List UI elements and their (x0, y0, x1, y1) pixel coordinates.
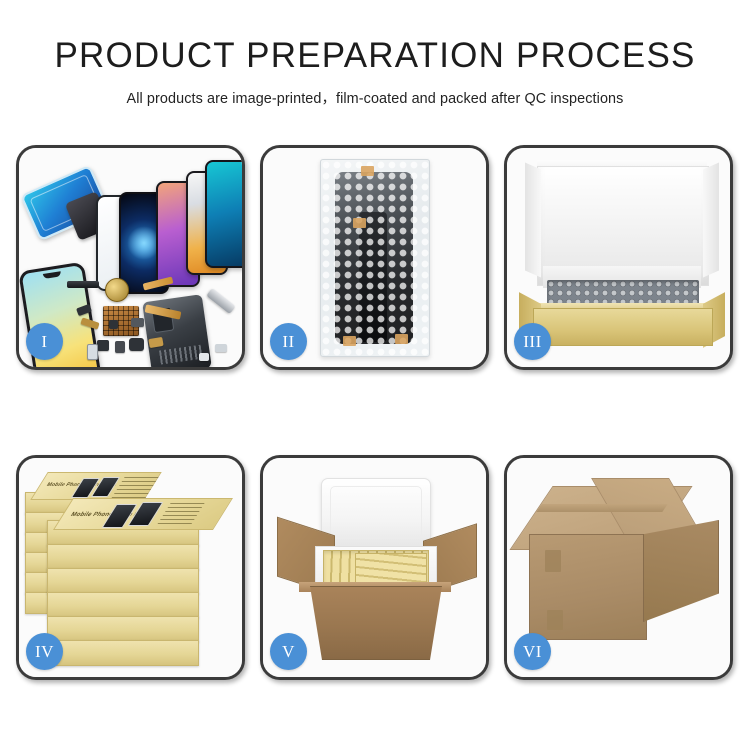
stacked-box-front-6 (47, 640, 199, 666)
process-step-grid: I II (16, 145, 734, 680)
process-step-panel-4[interactable]: Mobile Phone Spare Parts Mobile Phone Sp… (16, 455, 245, 680)
bubble-texture-icon (321, 160, 429, 356)
phone-screen-teal-icon (205, 160, 242, 268)
carton-tape-icon-1 (545, 550, 561, 572)
page-subtitle: All products are image-printed，film-coat… (0, 87, 750, 108)
stacked-box-front-5 (47, 616, 199, 642)
bubble-wrap-bag-icon (320, 159, 430, 357)
speaker-strip-icon (67, 281, 99, 288)
stacked-box-front-4 (47, 592, 199, 618)
process-step-panel-6[interactable]: VI (504, 455, 733, 680)
small-part-icon-6 (87, 344, 98, 360)
carton-side-face-icon (643, 520, 719, 622)
step-badge-4: IV (26, 633, 63, 670)
small-part-icon-4 (115, 341, 125, 353)
tape-icon-2 (353, 218, 366, 228)
tape-icon-4 (395, 334, 408, 344)
step-badge-6: VI (514, 633, 551, 670)
carton-tape-icon-2 (547, 610, 563, 630)
process-step-panel-2[interactable]: II (260, 145, 489, 370)
box-lid-left-flap-icon (525, 162, 541, 277)
kraft-box-front-icon (533, 308, 713, 346)
small-part-icon-7 (131, 318, 144, 327)
process-step-panel-1[interactable]: I (16, 145, 245, 370)
step-badge-2: II (270, 323, 307, 360)
tape-icon-3 (343, 336, 356, 346)
step-badge-1: I (26, 323, 63, 360)
step-badge-3: III (514, 323, 551, 360)
process-step-panel-3[interactable]: III (504, 145, 733, 370)
page-title: PRODUCT PREPARATION PROCESS (0, 38, 750, 73)
carton-top-seam-icon (536, 504, 667, 512)
vibration-motor-icon (105, 278, 129, 302)
step-badge-5: V (270, 633, 307, 670)
box-lid-right-flap-icon (703, 162, 719, 277)
product-preparation-infographic: PRODUCT PREPARATION PROCESS All products… (0, 0, 750, 750)
small-part-icon-10 (215, 344, 227, 352)
small-part-icon-5 (129, 338, 144, 351)
stacked-box-front-3 (47, 568, 199, 594)
stacked-box-front-2 (47, 544, 199, 570)
small-part-icon-11 (199, 353, 209, 361)
header: PRODUCT PREPARATION PROCESS All products… (0, 38, 750, 108)
repair-tool-icon (206, 288, 236, 314)
carton-front-icon (301, 586, 451, 660)
small-part-icon-3 (97, 340, 109, 351)
foam-box-lid-icon (321, 478, 431, 550)
process-step-panel-5[interactable]: V (260, 455, 489, 680)
tape-icon-1 (361, 166, 374, 176)
small-part-icon-8 (109, 320, 118, 329)
